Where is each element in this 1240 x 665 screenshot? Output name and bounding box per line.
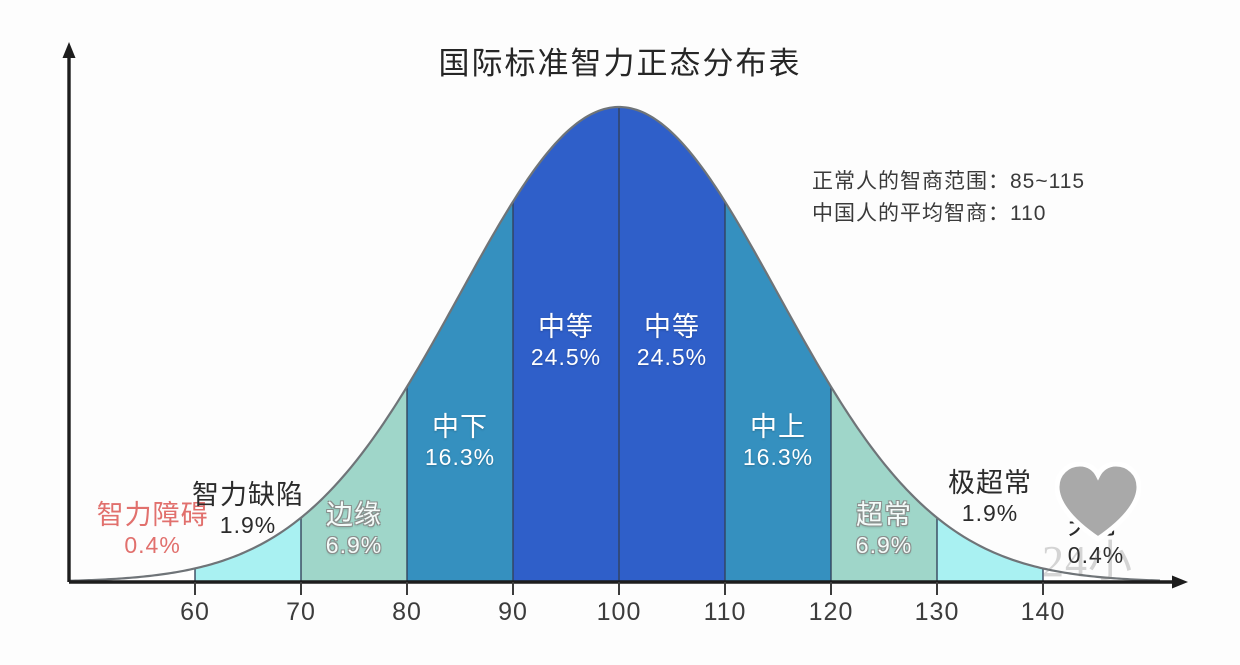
tick-label-110: 110 bbox=[704, 598, 747, 627]
segment-label-7: 超常6.9% bbox=[856, 500, 912, 559]
segment-percent-8: 1.9% bbox=[948, 500, 1032, 527]
annotation-block: 正常人的智商范围：85~115 中国人的平均智商：110 bbox=[812, 166, 1085, 230]
segment-name-4: 中等 bbox=[531, 312, 601, 344]
segment-name-5: 中等 bbox=[637, 312, 707, 344]
segment-percent-1: 1.9% bbox=[192, 512, 304, 539]
heart-icon bbox=[1055, 462, 1141, 542]
segment-percent-3: 16.3% bbox=[425, 444, 495, 471]
tick-label-130: 130 bbox=[915, 598, 960, 627]
segment-percent-9: 0.4% bbox=[1068, 542, 1124, 569]
tick-label-140: 140 bbox=[1021, 598, 1066, 627]
segment-label-2: 边缘6.9% bbox=[326, 500, 382, 559]
tick-label-80: 80 bbox=[392, 598, 422, 627]
segment-percent-6: 16.3% bbox=[743, 444, 813, 471]
segment-label-1: 智力缺陷1.9% bbox=[192, 480, 304, 539]
tick-label-100: 100 bbox=[597, 598, 642, 627]
band-3 bbox=[407, 60, 513, 582]
segment-name-1: 智力缺陷 bbox=[192, 480, 304, 512]
segment-name-6: 中上 bbox=[743, 412, 813, 444]
annotation-line-1: 正常人的智商范围：85~115 bbox=[812, 166, 1085, 198]
tick-label-120: 120 bbox=[809, 598, 854, 627]
tick-label-90: 90 bbox=[498, 598, 528, 627]
x-axis-arrow bbox=[1172, 576, 1188, 589]
segment-label-5: 中等24.5% bbox=[637, 312, 707, 371]
segment-label-8: 极超常1.9% bbox=[948, 468, 1032, 527]
band-6 bbox=[725, 60, 831, 582]
segment-percent-7: 6.9% bbox=[856, 532, 912, 559]
segment-label-3: 中下16.3% bbox=[425, 412, 495, 471]
segment-label-4: 中等24.5% bbox=[531, 312, 601, 371]
chart-canvas: 国际标准智力正态分布表 正常人的智商范围：85~115 中国人的平均智商：110… bbox=[0, 0, 1240, 665]
segment-name-7: 超常 bbox=[856, 500, 912, 532]
x-axis-ticks bbox=[195, 582, 1043, 595]
tick-label-60: 60 bbox=[180, 598, 210, 627]
annotation-line-2: 中国人的平均智商：110 bbox=[812, 198, 1085, 230]
normal-distribution-chart bbox=[0, 0, 1240, 665]
segment-name-8: 极超常 bbox=[948, 468, 1032, 500]
segment-percent-2: 6.9% bbox=[326, 532, 382, 559]
page-title: 国际标准智力正态分布表 bbox=[0, 38, 1240, 83]
segment-percent-5: 24.5% bbox=[637, 344, 707, 371]
segment-name-2: 边缘 bbox=[326, 500, 382, 532]
segment-name-3: 中下 bbox=[425, 412, 495, 444]
tick-label-70: 70 bbox=[286, 598, 316, 627]
segment-label-6: 中上16.3% bbox=[743, 412, 813, 471]
segment-percent-4: 24.5% bbox=[531, 344, 601, 371]
